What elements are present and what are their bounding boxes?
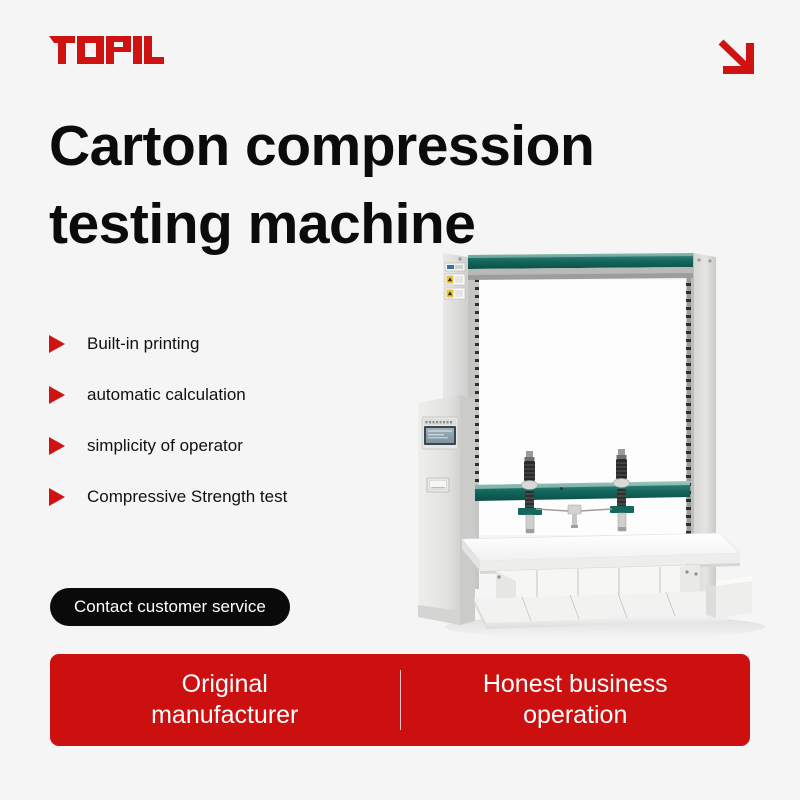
feature-list: Built-in printing automatic calculation … <box>49 318 389 522</box>
feature-label: simplicity of operator <box>87 437 243 454</box>
arrow-down-right-icon[interactable] <box>717 30 757 76</box>
triangle-right-icon <box>49 335 65 353</box>
logo-letter-t <box>49 36 75 64</box>
list-item: Built-in printing <box>49 318 389 369</box>
banner-right-line-1: Honest business <box>483 670 668 698</box>
feature-label: Built-in printing <box>87 335 199 352</box>
cta-label: Contact customer service <box>74 597 266 617</box>
product-banner-page: Carton compression testing machine Built… <box>0 0 800 800</box>
brand-logo[interactable] <box>49 32 164 64</box>
feature-label: Compressive Strength test <box>87 488 287 505</box>
banner-right-line-2: operation <box>523 701 627 729</box>
contact-customer-service-button[interactable]: Contact customer service <box>50 588 290 626</box>
banner-left-line-1: Original <box>182 670 268 698</box>
banner-cell-honest-business: Honest business operation <box>401 654 751 746</box>
triangle-right-icon <box>49 437 65 455</box>
feature-label: automatic calculation <box>87 386 246 403</box>
top-crossbeam <box>468 253 693 280</box>
warning-labels <box>445 263 465 299</box>
banner-cell-original-manufacturer: Original manufacturer <box>50 654 400 746</box>
trust-banner: Original manufacturer Honest business op… <box>50 654 750 746</box>
list-item: Compressive Strength test <box>49 471 389 522</box>
banner-left-line-2: manufacturer <box>151 701 298 729</box>
triangle-right-icon <box>49 488 65 506</box>
triangle-right-icon <box>49 386 65 404</box>
product-image <box>400 235 800 645</box>
list-item: simplicity of operator <box>49 420 389 471</box>
list-item: automatic calculation <box>49 369 389 420</box>
control-console <box>418 395 475 625</box>
logo-letter-o <box>77 36 104 64</box>
logo-letter-p <box>106 36 131 64</box>
logo-letter-i <box>133 36 142 64</box>
logo-letter-l <box>144 36 164 64</box>
